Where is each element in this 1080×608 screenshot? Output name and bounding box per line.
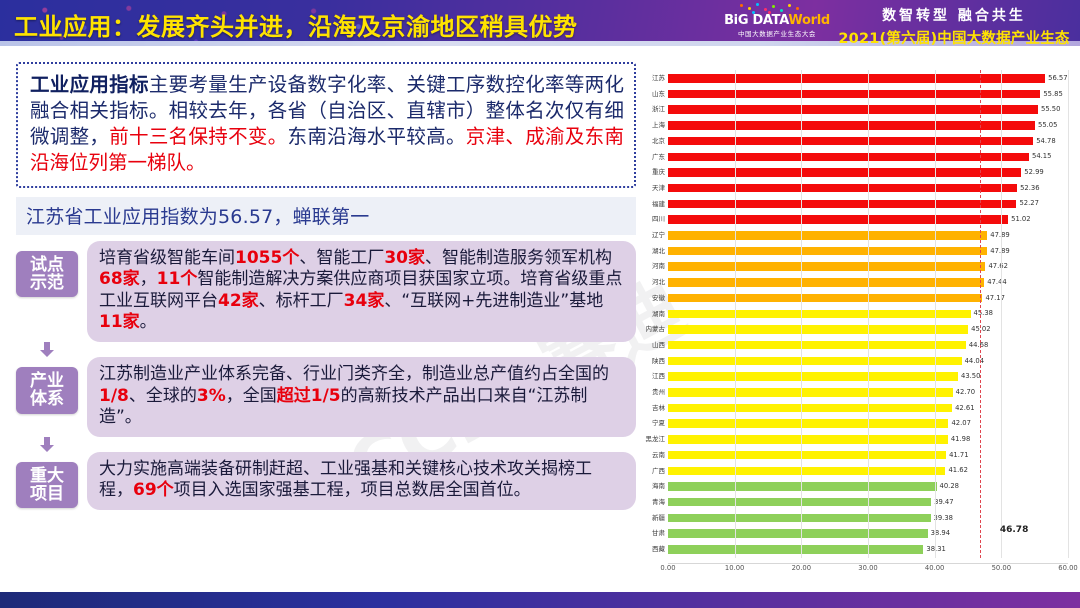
- bar-category-label: 宁夏: [635, 420, 665, 427]
- bar: [668, 137, 1033, 146]
- bar-value-label: 42.61: [955, 405, 974, 412]
- chart-x-axis: 0.0010.0020.0030.0040.0050.0060.00: [668, 564, 1068, 578]
- bar-value-label: 39.47: [934, 499, 953, 506]
- bubble-pilot-demo: 培育省级智能车间1055个、智能工厂30家、智能制造服务领军机构68家，11个智…: [87, 241, 636, 342]
- bar: [668, 325, 968, 334]
- bar: [668, 419, 948, 428]
- bar-value-label: 42.07: [951, 420, 970, 427]
- bar-category-label: 重庆: [635, 169, 665, 176]
- bar: [668, 247, 987, 256]
- arrow-down-icon: [16, 437, 78, 452]
- bar: [668, 372, 958, 381]
- bar: [668, 231, 987, 240]
- chart-plot-area: 江苏56.57山东55.85浙江55.50上海55.05北京54.78广东54.…: [668, 70, 1068, 558]
- bar: [668, 545, 923, 554]
- slide-root: 工业应用：发展齐头并进，沿海及京渝地区稍具优势 BiG DATAWorld 中国…: [0, 0, 1080, 608]
- bar-value-label: 43.50: [961, 373, 980, 380]
- bar-category-label: 黑龙江: [635, 436, 665, 443]
- bar: [668, 200, 1016, 209]
- bar-category-label: 西藏: [635, 546, 665, 553]
- bar-category-label: 海南: [635, 483, 665, 490]
- bar-category-label: 陕西: [635, 358, 665, 365]
- bar-category-label: 云南: [635, 452, 665, 459]
- intro-lead: 工业应用指标: [30, 73, 149, 96]
- bar-value-label: 38.31: [926, 546, 945, 553]
- logo-subtitle: 中国大数据产业生态大会: [722, 28, 832, 38]
- bar-value-label: 54.78: [1036, 138, 1055, 145]
- chart-gridline: [735, 70, 736, 558]
- bar-category-label: 上海: [635, 122, 665, 129]
- page-title: 工业应用：发展齐头并进，沿海及京渝地区稍具优势: [14, 7, 578, 42]
- bigdata-world-logo: BiG DATAWorld 中国大数据产业生态大会: [722, 3, 832, 43]
- bar-value-label: 41.98: [951, 436, 970, 443]
- bar-category-label: 河北: [635, 279, 665, 286]
- bar-category-label: 辽宁: [635, 232, 665, 239]
- bar: [668, 215, 1008, 224]
- bar-value-label: 47.89: [990, 232, 1009, 239]
- chart-gridline: [868, 70, 869, 558]
- bar-value-label: 55.85: [1043, 91, 1062, 98]
- bar-category-label: 甘肃: [635, 530, 665, 537]
- bar-category-label: 江苏: [635, 75, 665, 82]
- bar-category-label: 北京: [635, 138, 665, 145]
- bar: [668, 184, 1017, 193]
- bar-category-label: 天津: [635, 185, 665, 192]
- bar-category-label: 四川: [635, 216, 665, 223]
- x-axis-tick: 40.00: [925, 564, 944, 572]
- bar-category-label: 广东: [635, 154, 665, 161]
- bar-value-label: 47.44: [987, 279, 1006, 286]
- bar: [668, 168, 1021, 177]
- bar-category-label: 福建: [635, 201, 665, 208]
- slide-footer: [0, 592, 1080, 608]
- tag-major-projects: 重大 项目: [16, 462, 78, 509]
- bar: [668, 341, 966, 350]
- bar-category-label: 新疆: [635, 515, 665, 522]
- bar-value-label: 55.05: [1038, 122, 1057, 129]
- left-content-panel: 工业应用指标主要考量生产设备数字化率、关键工序数控化率等两化融合相关指标。相较去…: [16, 62, 636, 592]
- x-axis-tick: 20.00: [792, 564, 811, 572]
- province-index-bar-chart: CCIA 赛迪 江苏56.57山东55.85浙江55.50上海55.05北京54…: [646, 66, 1070, 588]
- tag-line-2: 体系: [30, 390, 64, 408]
- average-value-label: 46.78: [1000, 525, 1028, 535]
- subheading: 江苏省工业应用指数为56.57，蝉联第一: [16, 197, 636, 235]
- key-points-list: 试点 示范 培育省级智能车间1055个、智能工厂30家、智能制造服务领军机构68…: [16, 241, 636, 510]
- chart-gridline: [1001, 70, 1002, 558]
- intro-paragraph: 工业应用指标主要考量生产设备数字化率、关键工序数控化率等两化融合相关指标。相较去…: [30, 72, 624, 176]
- bubble-industry-system: 江苏制造业产业体系完备、行业门类齐全，制造业总产值约占全国的1/8、全球的3%，…: [87, 357, 636, 437]
- conference-branding: 数智转型 融合共生 2021(第六届)中国大数据产业生态大会: [836, 5, 1072, 46]
- bar-value-label: 39.38: [934, 515, 953, 522]
- bar: [668, 90, 1040, 99]
- flow-arrow-1: [16, 342, 636, 357]
- bar-category-label: 山东: [635, 91, 665, 98]
- bar-value-label: 42.70: [956, 389, 975, 396]
- bar-value-label: 45.38: [974, 310, 993, 317]
- bar-value-label: 55.50: [1041, 106, 1060, 113]
- tag-industry-system: 产业 体系: [16, 367, 78, 414]
- logo-dots-icon: [722, 3, 832, 14]
- list-item: 试点 示范 培育省级智能车间1055个、智能工厂30家、智能制造服务领军机构68…: [16, 241, 636, 342]
- tag-line-2: 项目: [30, 485, 64, 503]
- bar-category-label: 湖南: [635, 311, 665, 318]
- intro-highlight-1: 前十三名保持不变。: [109, 125, 287, 148]
- x-axis-tick: 60.00: [1058, 564, 1077, 572]
- bar-value-label: 54.15: [1032, 153, 1051, 160]
- bar: [668, 514, 931, 523]
- x-axis-tick: 30.00: [858, 564, 877, 572]
- bar-value-label: 41.71: [949, 452, 968, 459]
- arrow-down-icon: [16, 342, 78, 357]
- intro-callout-box: 工业应用指标主要考量生产设备数字化率、关键工序数控化率等两化融合相关指标。相较去…: [16, 62, 636, 188]
- bar-category-label: 河南: [635, 263, 665, 270]
- bar-value-label: 45.02: [971, 326, 990, 333]
- tag-line-1: 产业: [30, 372, 64, 390]
- bar-value-label: 47.62: [988, 263, 1007, 270]
- bar: [668, 262, 985, 271]
- logo-world-text: World: [788, 13, 829, 28]
- bar: [668, 435, 948, 444]
- bar: [668, 105, 1038, 114]
- bar-category-label: 内蒙古: [635, 326, 665, 333]
- tag-line-2: 示范: [30, 274, 64, 292]
- bar: [668, 467, 945, 476]
- bar: [668, 153, 1029, 162]
- bar-value-label: 56.57: [1048, 75, 1067, 82]
- tag-pilot-demo: 试点 示范: [16, 251, 78, 298]
- bar-value-label: 52.27: [1019, 200, 1038, 207]
- chart-gridline: [801, 70, 802, 558]
- bar-value-label: 41.62: [948, 467, 967, 474]
- bar-category-label: 青海: [635, 499, 665, 506]
- bubble-major-projects: 大力实施高端装备研制赶超、工业强基和关键核心技术攻关揭榜工程，69个项目入选国家…: [87, 452, 636, 510]
- bar: [668, 278, 984, 287]
- bar-category-label: 浙江: [635, 106, 665, 113]
- bar-value-label: 44.04: [965, 358, 984, 365]
- logo-bigdata-text: BiG DATA: [724, 13, 788, 28]
- bar: [668, 404, 952, 413]
- conference-slogan: 数智转型 融合共生: [836, 5, 1072, 25]
- bar-value-label: 51.02: [1011, 216, 1030, 223]
- bar-value-label: 52.36: [1020, 185, 1039, 192]
- chart-gridline: [935, 70, 936, 558]
- bar-value-label: 47.89: [990, 248, 1009, 255]
- x-axis-tick: 10.00: [725, 564, 744, 572]
- bar-category-label: 贵州: [635, 389, 665, 396]
- bar: [668, 388, 953, 397]
- tag-line-1: 试点: [30, 256, 64, 274]
- bar-value-label: 52.99: [1024, 169, 1043, 176]
- bar-category-label: 江西: [635, 373, 665, 380]
- x-axis-tick: 0.00: [660, 564, 675, 572]
- bar: [668, 357, 962, 366]
- list-item: 产业 体系 江苏制造业产业体系完备、行业门类齐全，制造业总产值约占全国的1/8、…: [16, 357, 636, 437]
- x-axis-tick: 50.00: [992, 564, 1011, 572]
- bar-category-label: 安徽: [635, 295, 665, 302]
- bar: [668, 310, 971, 319]
- flow-arrow-2: [16, 437, 636, 452]
- bar-value-label: 44.68: [969, 342, 988, 349]
- bar-value-label: 40.28: [940, 483, 959, 490]
- slide-header: 工业应用：发展齐头并进，沿海及京渝地区稍具优势 BiG DATAWorld 中国…: [0, 0, 1080, 46]
- bar: [668, 74, 1045, 83]
- conference-name: 2021(第六届)中国大数据产业生态大会: [836, 27, 1072, 46]
- tag-line-1: 重大: [30, 467, 64, 485]
- list-item: 重大 项目 大力实施高端装备研制赶超、工业强基和关键核心技术攻关揭榜工程，69个…: [16, 452, 636, 510]
- bar: [668, 451, 946, 460]
- bar-value-label: 38.94: [931, 530, 950, 537]
- bar-category-label: 湖北: [635, 248, 665, 255]
- chart-gridline: [1068, 70, 1069, 558]
- intro-body-2: 东南沿海水平较高。: [288, 125, 466, 148]
- bar-category-label: 广西: [635, 468, 665, 475]
- bar: [668, 529, 928, 538]
- bar: [668, 498, 931, 507]
- average-reference-line: [980, 70, 981, 558]
- bar-category-label: 吉林: [635, 405, 665, 412]
- logo-wordmark: BiG DATAWorld: [722, 14, 832, 27]
- bar-category-label: 山西: [635, 342, 665, 349]
